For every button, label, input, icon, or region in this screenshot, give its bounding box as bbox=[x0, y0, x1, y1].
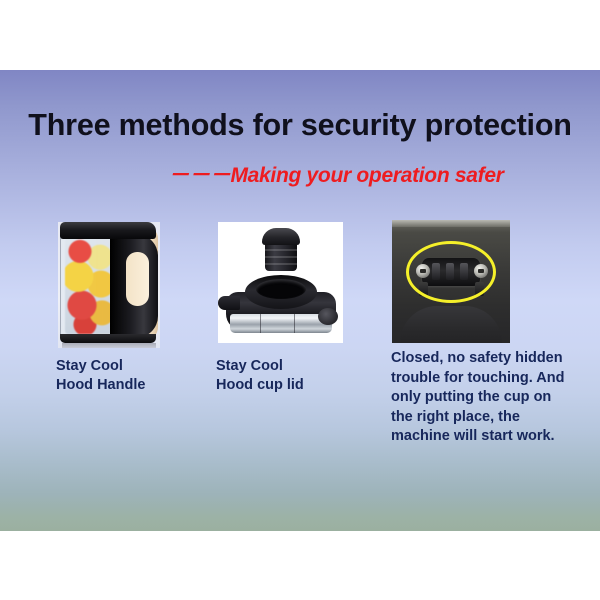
plug-rib bbox=[265, 256, 297, 258]
jug-lid bbox=[60, 222, 156, 239]
page-subtitle: －－－Making your operation safer bbox=[36, 159, 600, 189]
caption-stay-cool-hood-cup-lid: Stay Cool Hood cup lid bbox=[216, 357, 304, 395]
steel-band-seam bbox=[260, 314, 261, 333]
caption-stay-cool-hood-handle: Stay Cool Hood Handle bbox=[56, 357, 145, 395]
page-title: Three methods for security protection bbox=[0, 108, 600, 143]
blender-jug-with-fruit-photo bbox=[58, 222, 160, 348]
hood-cup-lid-photo bbox=[218, 222, 343, 343]
caption-safety-switch: Closed, no safety hidden trouble for tou… bbox=[391, 349, 569, 447]
yellow-highlight-ellipse bbox=[406, 241, 496, 303]
jar-spout bbox=[218, 296, 240, 310]
handle-grip-opening bbox=[126, 252, 149, 306]
fruit-contents bbox=[65, 238, 115, 334]
jug-reflection bbox=[62, 343, 156, 348]
jar-steel-band bbox=[230, 314, 332, 333]
lid-collar-opening bbox=[256, 279, 306, 299]
plug-rib bbox=[265, 249, 297, 251]
cup-lid-cap bbox=[262, 228, 300, 245]
jug-base bbox=[60, 334, 156, 343]
housing-top-edge bbox=[392, 220, 510, 227]
jar-side-knob bbox=[318, 308, 338, 325]
safety-switch-photo bbox=[392, 220, 510, 343]
steel-band-seam bbox=[294, 314, 295, 333]
housing-lower-body bbox=[400, 306, 502, 343]
plug-rib bbox=[265, 263, 297, 265]
slide-canvas: Three methods for security protection －－… bbox=[0, 70, 600, 531]
